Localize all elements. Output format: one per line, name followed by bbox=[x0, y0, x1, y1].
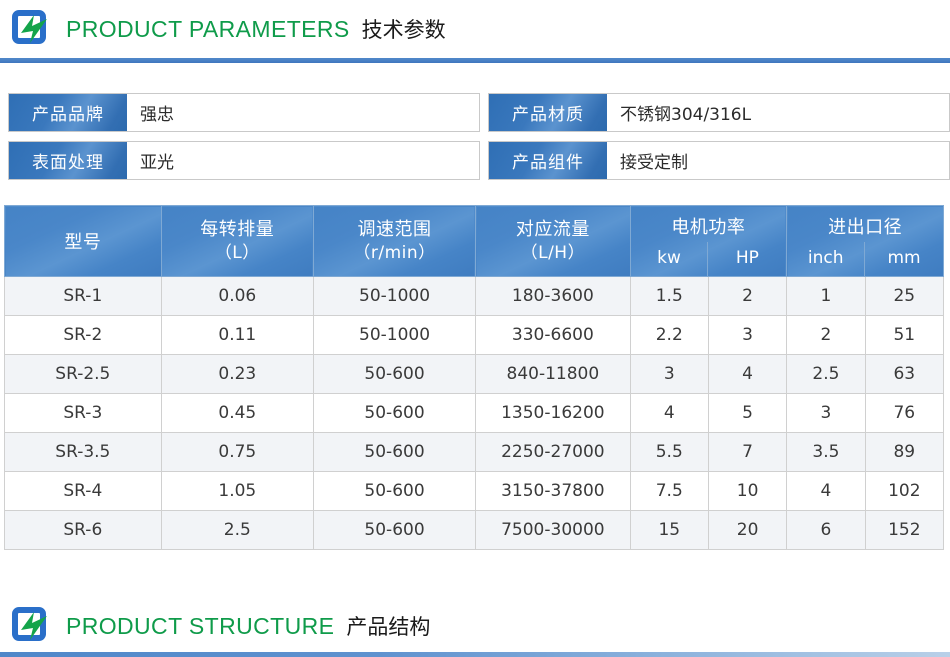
table-body: SR-1 0.06 50-1000 180-3600 1.5 2 1 25 SR… bbox=[5, 277, 944, 550]
cell-inch: 3 bbox=[787, 394, 865, 433]
header-divider-rule bbox=[0, 58, 950, 63]
cell-speed: 50-600 bbox=[313, 355, 475, 394]
spec-value-components: 接受定制 bbox=[607, 142, 949, 179]
cell-flow: 7500-30000 bbox=[476, 511, 630, 550]
cell-kw: 7.5 bbox=[630, 472, 708, 511]
page-title-en: PRODUCT PARAMETERS bbox=[66, 16, 350, 43]
spec-label-brand: 产品品牌 bbox=[9, 94, 127, 131]
cell-inch: 1 bbox=[787, 277, 865, 316]
cell-mm: 152 bbox=[865, 511, 943, 550]
product-parameters-header: PRODUCT PARAMETERS 技术参数 bbox=[0, 0, 950, 58]
cell-speed: 50-1000 bbox=[313, 277, 475, 316]
bottom-divider-rule bbox=[0, 652, 950, 657]
logo-square-bolt-icon bbox=[10, 9, 50, 49]
bottom-title-cn: 产品结构 bbox=[346, 611, 430, 641]
col-header-displacement: 每转排量 （L） bbox=[161, 206, 313, 277]
col-subheader-inch: inch bbox=[787, 242, 865, 276]
table-header-row: 型号 每转排量 （L） 调速范围 （r/min） 对应流量 bbox=[5, 206, 944, 277]
cell-flow: 330-6600 bbox=[476, 316, 630, 355]
cell-model: SR-1 bbox=[5, 277, 162, 316]
cell-mm: 102 bbox=[865, 472, 943, 511]
cell-inch: 2 bbox=[787, 316, 865, 355]
col-header-model: 型号 bbox=[5, 206, 162, 277]
cell-inch: 6 bbox=[787, 511, 865, 550]
cell-mm: 89 bbox=[865, 433, 943, 472]
cell-kw: 5.5 bbox=[630, 433, 708, 472]
cell-kw: 15 bbox=[630, 511, 708, 550]
cell-inch: 2.5 bbox=[787, 355, 865, 394]
col-header-speed-range: 调速范围 （r/min） bbox=[313, 206, 475, 277]
cell-model: SR-4 bbox=[5, 472, 162, 511]
cell-displacement: 0.75 bbox=[161, 433, 313, 472]
cell-hp: 10 bbox=[708, 472, 786, 511]
cell-model: SR-3.5 bbox=[5, 433, 162, 472]
spec-value-brand: 强忠 bbox=[127, 94, 479, 131]
table-row: SR-6 2.5 50-600 7500-30000 15 20 6 152 bbox=[5, 511, 944, 550]
cell-kw: 2.2 bbox=[630, 316, 708, 355]
spec-box-brand: 产品品牌 强忠 bbox=[8, 93, 480, 132]
table-row: SR-2.5 0.23 50-600 840-11800 3 4 2.5 63 bbox=[5, 355, 944, 394]
col-subheader-kw: kw bbox=[631, 242, 709, 276]
logo-square-bolt-icon bbox=[10, 606, 50, 646]
table-row: SR-2 0.11 50-1000 330-6600 2.2 3 2 51 bbox=[5, 316, 944, 355]
spec-box-surface: 表面处理 亚光 bbox=[8, 141, 480, 180]
bottom-title-en: PRODUCT STRUCTURE bbox=[66, 613, 334, 640]
cell-displacement: 0.11 bbox=[161, 316, 313, 355]
col-header-flow: 对应流量 （L/H） bbox=[476, 206, 630, 277]
cell-inch: 4 bbox=[787, 472, 865, 511]
table-row: SR-3 0.45 50-600 1350-16200 4 5 3 76 bbox=[5, 394, 944, 433]
col-header-motor-power: 电机功率 kw HP bbox=[630, 206, 787, 277]
cell-speed: 50-600 bbox=[313, 433, 475, 472]
spec-label-material: 产品材质 bbox=[489, 94, 607, 131]
cell-kw: 3 bbox=[630, 355, 708, 394]
product-structure-section: PRODUCT STRUCTURE 产品结构 bbox=[0, 600, 950, 657]
page-title-cn: 技术参数 bbox=[362, 14, 446, 44]
spec-value-material: 不锈钢304/316L bbox=[607, 94, 949, 131]
cell-flow: 840-11800 bbox=[476, 355, 630, 394]
table-row: SR-3.5 0.75 50-600 2250-27000 5.5 7 3.5 … bbox=[5, 433, 944, 472]
cell-model: SR-3 bbox=[5, 394, 162, 433]
cell-displacement: 0.06 bbox=[161, 277, 313, 316]
cell-displacement: 1.05 bbox=[161, 472, 313, 511]
cell-model: SR-2 bbox=[5, 316, 162, 355]
cell-hp: 7 bbox=[708, 433, 786, 472]
spec-label-surface: 表面处理 bbox=[9, 142, 127, 179]
cell-model: SR-2.5 bbox=[5, 355, 162, 394]
cell-mm: 76 bbox=[865, 394, 943, 433]
table-row: SR-4 1.05 50-600 3150-37800 7.5 10 4 102 bbox=[5, 472, 944, 511]
cell-kw: 4 bbox=[630, 394, 708, 433]
spec-value-surface: 亚光 bbox=[127, 142, 479, 179]
cell-speed: 50-600 bbox=[313, 511, 475, 550]
cell-displacement: 0.23 bbox=[161, 355, 313, 394]
cell-displacement: 0.45 bbox=[161, 394, 313, 433]
cell-model: SR-6 bbox=[5, 511, 162, 550]
cell-hp: 4 bbox=[708, 355, 786, 394]
spec-box-components: 产品组件 接受定制 bbox=[488, 141, 950, 180]
cell-flow: 3150-37800 bbox=[476, 472, 630, 511]
cell-kw: 1.5 bbox=[630, 277, 708, 316]
parameter-table-wrapper: 型号 每转排量 （L） 调速范围 （r/min） 对应流量 bbox=[0, 205, 950, 550]
cell-hp: 2 bbox=[708, 277, 786, 316]
col-header-port-size: 进出口径 inch mm bbox=[787, 206, 944, 277]
cell-mm: 63 bbox=[865, 355, 943, 394]
col-subheader-hp: HP bbox=[708, 242, 786, 276]
cell-displacement: 2.5 bbox=[161, 511, 313, 550]
cell-speed: 50-1000 bbox=[313, 316, 475, 355]
spec-box-material: 产品材质 不锈钢304/316L bbox=[488, 93, 950, 132]
cell-flow: 2250-27000 bbox=[476, 433, 630, 472]
spec-grid: 产品品牌 强忠 产品材质 不锈钢304/316L 表面处理 亚光 产品组件 接受… bbox=[0, 93, 950, 180]
product-structure-header: PRODUCT STRUCTURE 产品结构 bbox=[0, 600, 950, 652]
cell-mm: 25 bbox=[865, 277, 943, 316]
cell-hp: 3 bbox=[708, 316, 786, 355]
table-row: SR-1 0.06 50-1000 180-3600 1.5 2 1 25 bbox=[5, 277, 944, 316]
cell-speed: 50-600 bbox=[313, 394, 475, 433]
cell-speed: 50-600 bbox=[313, 472, 475, 511]
cell-mm: 51 bbox=[865, 316, 943, 355]
cell-flow: 180-3600 bbox=[476, 277, 630, 316]
cell-inch: 3.5 bbox=[787, 433, 865, 472]
cell-hp: 20 bbox=[708, 511, 786, 550]
parameter-table: 型号 每转排量 （L） 调速范围 （r/min） 对应流量 bbox=[4, 205, 944, 550]
cell-hp: 5 bbox=[708, 394, 786, 433]
cell-flow: 1350-16200 bbox=[476, 394, 630, 433]
col-subheader-mm: mm bbox=[865, 242, 943, 276]
spec-label-components: 产品组件 bbox=[489, 142, 607, 179]
